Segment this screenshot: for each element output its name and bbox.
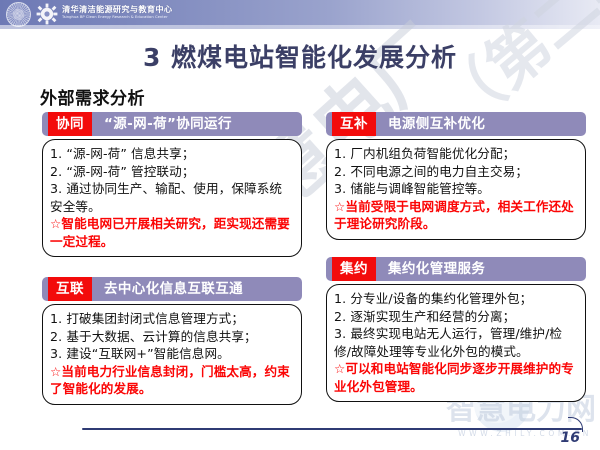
list-item: 3. 通过协同生产、输配、使用，保障系统安全等。: [50, 180, 294, 215]
university-seal-icon: [6, 2, 31, 27]
section-label: 外部需求分析: [40, 84, 145, 109]
card-note: ☆可以和电站智能化同步逐步开展维护的专业化外包管理。: [334, 360, 578, 395]
status-badge: 互联: [48, 277, 92, 301]
card-body: 1. 打破集团封闭式信息管理方式； 2. 基于大数据、云计算的信息共享； 3. …: [42, 304, 302, 405]
list-item: 2. 不同电源之间的电力自主交易；: [334, 163, 578, 181]
card-heading: 集约化管理服务: [388, 257, 485, 281]
card-body: 1. “源-网-荷” 信息共享； 2. “源-网-荷” 管控联动； 3. 通过协…: [42, 139, 302, 257]
list-item: 3. 最终实现电站无人运行，管理/维护/检修/故障处理等专业化外包的模式。: [334, 325, 578, 360]
card-hubu: 电源侧互补优化 互补 1. 厂内机组负荷智能优化分配； 2. 不同电源之间的电力…: [326, 112, 586, 240]
card-heading: 电源侧互补优化: [388, 112, 485, 136]
card-header: “源-网-荷”协同运行 协同: [42, 112, 302, 136]
card-hulian: 去中心化信息互联互通 互联 1. 打破集团封闭式信息管理方式； 2. 基于大数据…: [42, 277, 302, 405]
list-item: 2. “源-网-荷” 管控联动；: [50, 163, 294, 181]
list-item: 3. 建设“互联网+”智能信息网。: [50, 345, 294, 363]
gear-icon: [36, 3, 58, 25]
card-header: 去中心化信息互联互通 互联: [42, 277, 302, 301]
card-note: ☆智能电网已开展相关研究，距实现还需要一定过程。: [50, 215, 294, 250]
card-note: ☆当前受限于电网调度方式，相关工作还处于理论研究阶段。: [334, 198, 578, 233]
card-heading: 去中心化信息互联互通: [104, 277, 243, 301]
list-item: 1. 分专业/设备的集约化管理外包；: [334, 290, 578, 308]
card-jiyue: 集约化管理服务 集约 1. 分专业/设备的集约化管理外包； 2. 逐渐实现生产和…: [326, 257, 586, 402]
card-xietong: “源-网-荷”协同运行 协同 1. “源-网-荷” 信息共享； 2. “源-网-…: [42, 112, 302, 257]
logo-title-cn: 清华清洁能源研究与教育中心: [62, 4, 272, 14]
list-item: 1. “源-网-荷” 信息共享；: [50, 145, 294, 163]
page-title: 3 燃煤电站智能化发展分析: [0, 38, 600, 74]
status-badge: 协同: [48, 112, 92, 136]
footer-rule: [82, 428, 582, 430]
list-item: 3. 储能与调峰智能管控等。: [334, 180, 578, 198]
header-band: 清华清洁能源研究与教育中心 Tsinghua BP Clean Energy R…: [0, 0, 600, 29]
card-body: 1. 厂内机组负荷智能优化分配； 2. 不同电源之间的电力自主交易； 3. 储能…: [326, 139, 586, 240]
status-badge: 互补: [332, 112, 376, 136]
card-header: 集约化管理服务 集约: [326, 257, 586, 281]
page-number: 16: [561, 430, 580, 446]
card-body: 1. 分专业/设备的集约化管理外包； 2. 逐渐实现生产和经营的分离； 3. 最…: [326, 284, 586, 402]
list-item: 2. 逐渐实现生产和经营的分离；: [334, 308, 578, 326]
list-item: 1. 打破集团封闭式信息管理方式；: [50, 310, 294, 328]
list-item: 1. 厂内机组负荷智能优化分配；: [334, 145, 578, 163]
status-badge: 集约: [332, 257, 376, 281]
card-header: 电源侧互补优化 互补: [326, 112, 586, 136]
logo-title-en: Tsinghua BP Clean Energy Research & Educ…: [62, 14, 272, 20]
list-item: 2. 基于大数据、云计算的信息共享；: [50, 328, 294, 346]
slide-canvas: 清华清洁能源研究与教育中心 Tsinghua BP Clean Energy R…: [0, 0, 600, 450]
card-note: ☆当前电力行业信息封闭，门槛太高，约束了智能化的发展。: [50, 363, 294, 398]
card-heading: “源-网-荷”协同运行: [104, 112, 232, 136]
logo-text: 清华清洁能源研究与教育中心 Tsinghua BP Clean Energy R…: [62, 4, 272, 20]
